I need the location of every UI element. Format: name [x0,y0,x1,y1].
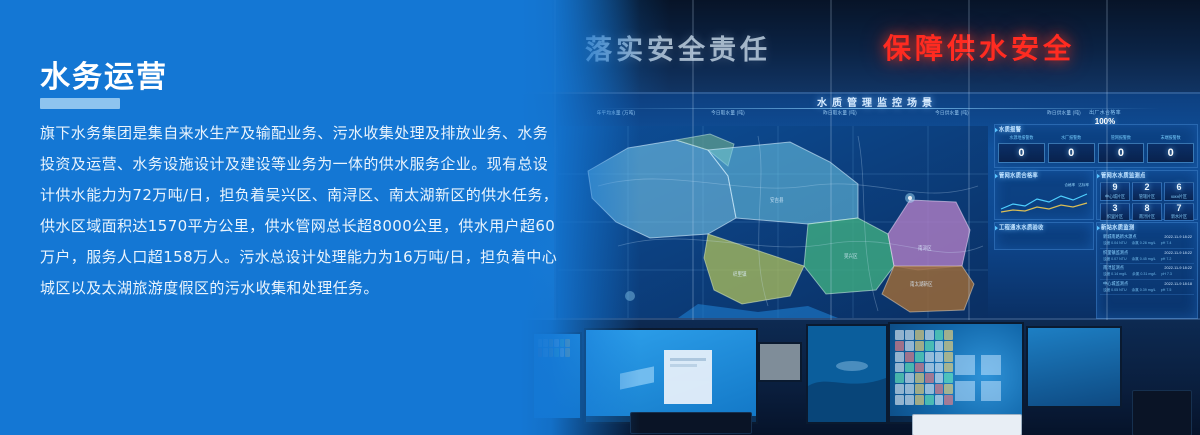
water-operations-banner: 落实安全责任 保障供水安全 水质管理监控场景 年平均水量 (万吨) 今日取水量 … [0,0,1200,435]
monitor-point-value: 8 [1144,204,1149,213]
gauge-label: 出厂水合格率 [1074,109,1136,116]
log-metric: 余氯 0.39 mg/L [1132,288,1156,293]
page-title: 水务运营 [40,52,168,96]
log-metric: pH 7.4 [1161,241,1172,246]
text-column: 水务运营 旗下水务集团是集自来水生产及输配业务、污水收集处理及排放业务、水务投资… [0,0,600,435]
screen-seam [968,0,970,320]
log-metric: pH 7.3 [1161,272,1172,277]
log-metric: pH 7.2 [1161,257,1172,262]
alarm-card-value: 0 [1098,143,1145,163]
panel-project-acceptance[interactable]: 工程通水水质验收 [994,222,1094,250]
panel-title: 工程通水水质验收 [999,223,1044,231]
panel-monitor-points[interactable]: 管网水水质监测点 9 中心城片区 2 管辖片区 6 южн片区 [1096,170,1198,220]
log-metric: 余氯 0.45 mg/L [1132,257,1156,262]
map-label-region: 南浔区 [918,245,932,252]
alarm-card-label: 管网报警数 [1098,134,1145,141]
monitor-point-label: 管辖片区 [1139,193,1155,200]
alarm-card-value: 0 [1048,143,1095,163]
log-name: 新城南路新水源点 [1103,234,1137,241]
monitor-point-cell[interactable]: 3 织里片区 [1100,203,1130,222]
map-label-region: 安吉县 [770,197,784,204]
monitor-point-value: 7 [1176,204,1181,213]
alarm-card-label: 水厂报警数 [1048,134,1095,141]
map-label-region: 吴兴区 [844,253,858,260]
dashboard-screen: 水质管理监控场景 年平均水量 (万吨) 今日取水量 (吨) 昨日取水量 (吨) … [554,92,1200,320]
underwater-scene [808,326,886,422]
monitor-point-cell[interactable]: 9 中心城片区 [1100,182,1130,201]
monitor-point-label: 新水片区 [1171,214,1187,221]
log-row[interactable]: 织里镇监测点 2022-11-9 18:22 浊度 0.07 NTU 余氯 0.… [1100,249,1194,265]
screen-seam [692,0,694,320]
monitor-point-grid: 9 中心城片区 2 管辖片区 6 южн片区 3 织里片区 [1100,182,1194,216]
description-paragraph: 旗下水务集团是集自来水生产及输配业务、污水收集处理及排放业务、水务投资及运营、水… [40,118,560,304]
monitor-point-value: 2 [1144,183,1149,192]
monitor-point-value: 3 [1112,204,1117,213]
panel-new-station-quality[interactable]: 新站水质监测 新城南路新水源点 2022-11-9 18:22 浊度 0.04 … [1096,222,1198,319]
map-label-region: 织里镇 [733,271,747,278]
control-room-photo: 落实安全责任 保障供水安全 水质管理监控场景 年平均水量 (万吨) 今日取水量 … [520,0,1200,435]
windows-desktop-monitor[interactable] [888,322,1024,424]
panel-title: 水质报警 [999,125,1021,133]
monitor-point-cell[interactable]: 8 南浔片区 [1132,203,1162,222]
alarm-card[interactable]: 水源地报警数 0 [998,135,1045,163]
log-metric: 余氯 0.28 mg/L [1132,241,1156,246]
keyboard[interactable] [912,414,1022,435]
alarm-card-value: 0 [1147,143,1194,163]
underwater-monitor[interactable] [806,324,888,424]
log-metric: 余氯 0.31 mg/L [1132,272,1156,277]
monitor-point-cell[interactable]: 7 新水片区 [1164,203,1194,222]
center-small-monitor[interactable] [758,342,802,382]
screen-seam [830,0,832,320]
dashboard-title: 水质管理监控场景 [554,94,1200,109]
spreadsheet-monitor[interactable] [1026,326,1122,408]
screen-seam [1106,0,1108,320]
panel-water-quality-alarm[interactable]: 水质报警 水源地报警数 0 水厂报警数 0 管网报警数 0 [994,124,1198,168]
panel-title: 管网水质合格率 [999,171,1038,179]
quality-log-list[interactable]: 新城南路新水源点 2022-11-9 18:22 浊度 0.04 NTU 余氯 … [1100,233,1194,317]
alarm-card-value: 0 [998,143,1045,163]
alarm-card[interactable]: 水厂报警数 0 [1048,135,1095,163]
monitor-point-label: южн片区 [1171,193,1187,200]
monitor-point-label: 织里片区 [1107,214,1123,221]
alarm-card-label: 水源地报警数 [998,134,1045,141]
slogan-water-supply-safety: 保障供水安全 [883,27,1075,67]
desk-equipment [1132,390,1192,435]
windows-logo-icon [955,355,1001,401]
log-row[interactable]: 南浔监测点 2022-11-9 18:22 浊度 0.14 mg/L 余氯 0.… [1100,264,1194,280]
monitor-point-label: 中心城片区 [1105,193,1125,200]
log-row[interactable]: 新城南路新水源点 2022-11-9 18:22 浊度 0.04 NTU 余氯 … [1100,233,1194,249]
log-timestamp: 2022-11-9 18:18 [1164,282,1192,286]
keyboard[interactable] [630,412,752,434]
document-window[interactable] [664,350,712,403]
log-timestamp: 2022-11-9 18:22 [1164,266,1192,270]
monitor-point-cell[interactable]: 6 южн片区 [1164,182,1194,201]
panel-pipe-quality-rate[interactable]: 管网水质合格率 合格率 达标率 [994,170,1094,220]
quality-rate-chart [999,187,1089,215]
title-underline [40,98,120,109]
monitor-point-label: 南浔片区 [1139,214,1155,221]
monitor-point-value: 9 [1112,183,1117,192]
alarm-card[interactable]: 末端报警数 0 [1147,135,1194,163]
map-label-region: 南太湖新区 [910,281,933,288]
log-timestamp: 2022-11-9 18:22 [1164,235,1192,239]
alarm-card[interactable]: 管网报警数 0 [1098,135,1145,163]
log-row[interactable]: 中心城监测点 2022-11-9 18:18 浊度 0.05 NTU 余氯 0.… [1100,280,1194,296]
alarm-card-list: 水源地报警数 0 水厂报警数 0 管网报警数 0 末端报警数 0 [998,135,1194,163]
desktop-icon-grid[interactable] [895,330,953,412]
monitor-point-value: 6 [1176,183,1181,192]
log-metric: pH 7.5 [1161,288,1172,293]
alarm-card-label: 末端报警数 [1147,134,1194,141]
log-timestamp: 2022-11-9 18:22 [1164,251,1192,255]
monitor-point-cell[interactable]: 2 管辖片区 [1132,182,1162,201]
